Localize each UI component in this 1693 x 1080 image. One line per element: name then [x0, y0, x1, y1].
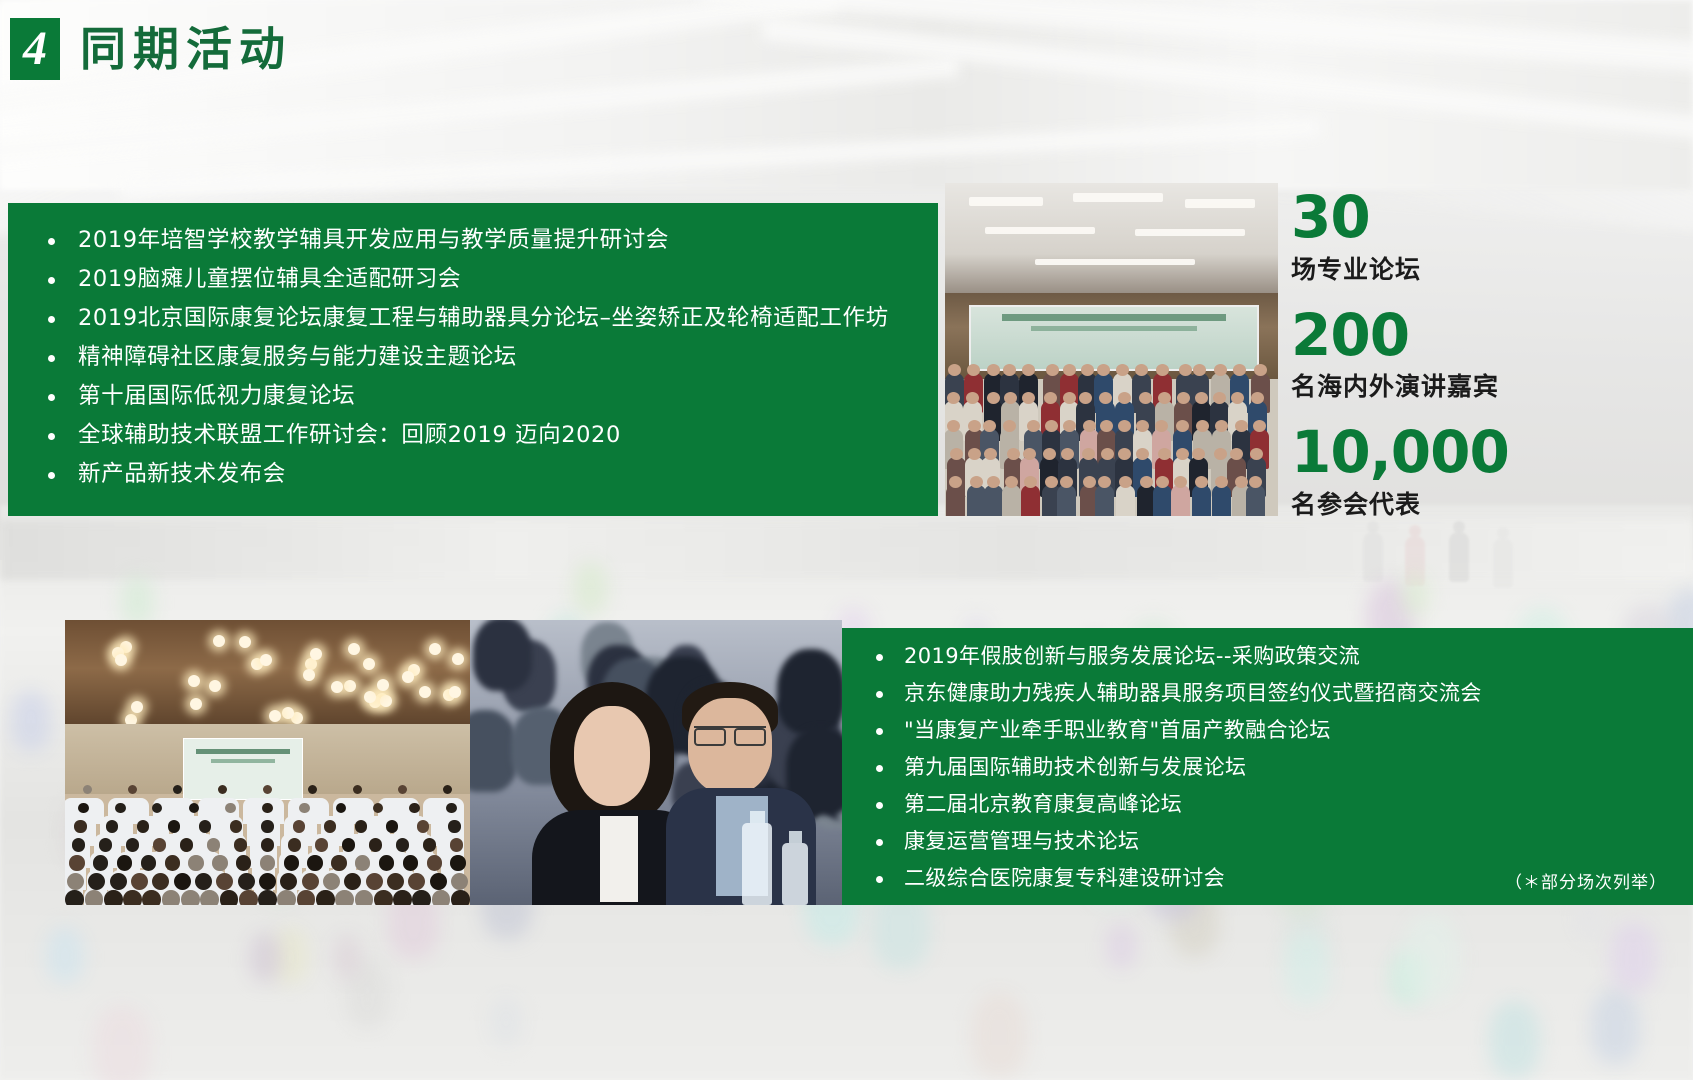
- audience-closeup-photo: [470, 620, 842, 905]
- list-item: 康复运营管理与技术论坛: [870, 831, 1693, 852]
- bottom-events-panel: 2019年假肢创新与服务发展论坛--采购政策交流 京东健康助力残疾人辅助器具服务…: [840, 628, 1693, 905]
- photo-attendees: [945, 359, 1278, 516]
- photo-stage-screen: [183, 738, 303, 800]
- list-item: 全球辅助技术联盟工作研讨会：回顾2019 迈向2020: [42, 424, 938, 447]
- photo-water-bottle: [782, 843, 808, 905]
- stat-label: 场专业论坛: [1291, 250, 1681, 286]
- photo-water-bottle: [742, 823, 772, 905]
- stat-item-attendees: 10,000 名参会代表: [1291, 425, 1681, 521]
- photo-ceiling-light: [969, 197, 1043, 206]
- footnote: （＊部分场次列举）: [1505, 868, 1667, 893]
- list-item: 2019年假肢创新与服务发展论坛--采购政策交流: [870, 646, 1693, 667]
- page-header: 4 同期活动: [10, 18, 292, 80]
- stat-number: 30: [1291, 190, 1681, 246]
- list-item: 新产品新技术发布会: [42, 463, 938, 486]
- list-item: 2019北京国际康复论坛康复工程与辅助器具分论坛–坐姿矫正及轮椅适配工作坊: [42, 307, 938, 330]
- stat-item-speakers: 200 名海内外演讲嘉宾: [1291, 308, 1681, 404]
- stat-label: 名海内外演讲嘉宾: [1291, 367, 1681, 403]
- list-item: 2019年培智学校教学辅具开发应用与教学质量提升研讨会: [42, 229, 938, 252]
- photo-ceiling-light: [1135, 229, 1245, 236]
- statistics-column: 30 场专业论坛 200 名海内外演讲嘉宾 10,000 名参会代表: [1291, 190, 1681, 543]
- photo-person-woman-shirt: [600, 816, 638, 902]
- stat-number: 200: [1291, 308, 1681, 364]
- section-number-badge: 4: [10, 18, 60, 80]
- top-events-panel: 2019年培智学校教学辅具开发应用与教学质量提升研讨会 2019脑瘫儿童摆位辅具…: [8, 203, 938, 516]
- stat-item-forums: 30 场专业论坛: [1291, 190, 1681, 286]
- list-item: 第二届北京教育康复高峰论坛: [870, 794, 1693, 815]
- list-item: 第九届国际辅助技术创新与发展论坛: [870, 757, 1693, 778]
- list-item: 京东健康助力残疾人辅助器具服务项目签约仪式暨招商交流会: [870, 683, 1693, 704]
- stat-number: 10,000: [1291, 425, 1681, 481]
- list-item: 第十届国际低视力康复论坛: [42, 385, 938, 408]
- group-photo: [945, 183, 1278, 516]
- bottom-events-list: 2019年假肢创新与服务发展论坛--采购政策交流 京东健康助力残疾人辅助器具服务…: [840, 628, 1693, 889]
- list-item: 精神障碍社区康复服务与能力建设主题论坛: [42, 346, 938, 369]
- photo-ceiling-light: [985, 227, 1095, 234]
- photo-person-man-face: [688, 698, 772, 794]
- top-events-list: 2019年培智学校教学辅具开发应用与教学质量提升研讨会 2019脑瘫儿童摆位辅具…: [8, 203, 938, 486]
- photo-person-woman-face: [574, 706, 650, 806]
- photo-person-man-glasses: [694, 726, 766, 742]
- photo-ceiling-light: [1185, 199, 1255, 208]
- list-item: "当康复产业牵手职业教育"首届产教融合论坛: [870, 720, 1693, 741]
- photo-ceiling-light: [1035, 259, 1195, 265]
- page-title: 同期活动: [80, 26, 292, 72]
- conference-hall-photo: [65, 620, 470, 905]
- photo-ceiling-light: [1073, 193, 1163, 202]
- stat-label: 名参会代表: [1291, 485, 1681, 521]
- list-item: 2019脑瘫儿童摆位辅具全适配研习会: [42, 268, 938, 291]
